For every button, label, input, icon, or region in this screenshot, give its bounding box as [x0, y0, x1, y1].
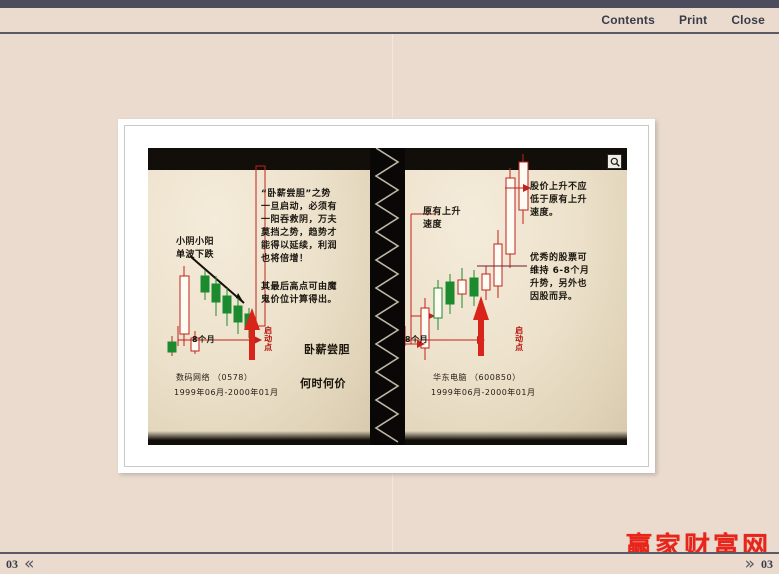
annotation-right-top: 股价上升不应 低于原有上升 速度。 — [530, 181, 587, 220]
next-page-control[interactable]: » 03 — [745, 556, 773, 573]
start-point-label-left: 启动点 — [262, 326, 274, 352]
scanned-page-image[interactable]: 小阴小阳 单波下跌 “卧薪尝胆”之势 一旦启动，必须有 一阳吞救阴，万夫 莫挡之… — [148, 148, 627, 445]
book-viewer-window: Contents Print Close — [0, 0, 779, 574]
signature-line-2: 何时何价 — [300, 376, 346, 392]
original-rise-speed-label: 原有上升 速度 — [423, 206, 461, 232]
menu-item-print[interactable]: Print — [679, 13, 707, 27]
stock-name-right: 华东电脑 （600850） — [433, 372, 521, 384]
prev-page-control[interactable]: 03 « — [6, 556, 34, 573]
signature-line-1: 卧薪尝胆 — [304, 342, 350, 358]
spine-stitching-icon — [374, 148, 401, 445]
date-range-right: 1999年06月-2000年01月 — [431, 387, 535, 399]
start-point-label-right: 启动点 — [513, 326, 525, 352]
title-bar — [0, 0, 779, 8]
page-number-right: 03 — [761, 557, 773, 572]
page-frame: 小阴小阳 单波下跌 “卧薪尝胆”之势 一旦启动，必须有 一阳吞救阴，万夫 莫挡之… — [118, 119, 655, 473]
stock-name-left: 数码网络 （0578） — [176, 372, 252, 384]
annotation-left-bottom: 其最后高点可由魔 鬼价位计算得出。 — [261, 281, 337, 307]
annotation-right-bottom: 优秀的股票可 维持 6-8个月 升势，另外也 因股而异。 — [530, 252, 589, 304]
date-range-left: 1999年06月-2000年01月 — [174, 387, 278, 399]
menu-item-close[interactable]: Close — [731, 13, 765, 27]
scan-left-page: 小阴小阳 单波下跌 “卧薪尝胆”之势 一旦启动，必须有 一阳吞救阴，万夫 莫挡之… — [148, 148, 370, 445]
menu-item-contents[interactable]: Contents — [601, 13, 655, 27]
double-chevron-left-icon[interactable]: « — [24, 556, 34, 573]
footer-bar — [0, 554, 779, 574]
page-number-left: 03 — [6, 557, 18, 572]
label-small-candles: 小阴小阳 单波下跌 — [176, 236, 214, 262]
double-chevron-right-icon[interactable]: » — [745, 556, 755, 573]
candlestick-chart-right — [405, 148, 627, 445]
book-spine — [370, 148, 405, 445]
duration-label-right: 8个月 — [405, 334, 428, 346]
magnifier-pan-icon[interactable] — [607, 154, 622, 169]
menu-bar: Contents Print Close — [0, 8, 779, 32]
scan-right-page: 原有上升 速度 股价上升不应 低于原有上升 速度。 优秀的股票可 维持 6-8个… — [405, 148, 627, 445]
annotation-left-top: “卧薪尝胆”之势 一旦启动，必须有 一阳吞救阴，万夫 莫挡之势，趋势才 能得以延… — [261, 188, 337, 266]
duration-label-left: 8个月 — [192, 334, 215, 346]
